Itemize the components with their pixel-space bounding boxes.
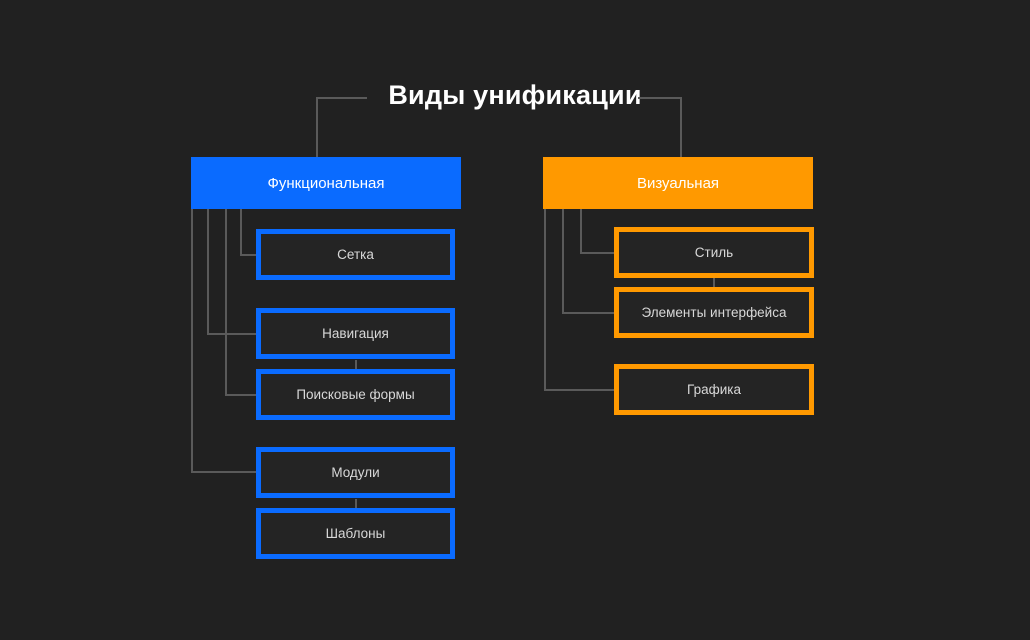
connector-visual-2-vertical bbox=[562, 209, 564, 313]
node-grafika[interactable]: Графика bbox=[614, 364, 814, 415]
connector-visual-3-vertical bbox=[544, 209, 546, 390]
connector-visual-stub-style-elements bbox=[713, 278, 715, 287]
connector-functional-4-vertical bbox=[191, 209, 193, 472]
node-elementy-interfeysa[interactable]: Элементы интерфейса bbox=[614, 287, 814, 338]
node-poiskovye-formy[interactable]: Поисковые формы bbox=[256, 369, 455, 420]
connector-visual-2-horizontal bbox=[562, 312, 617, 314]
node-shablony[interactable]: Шаблоны bbox=[256, 508, 455, 559]
title-connector-right-horizontal bbox=[638, 97, 682, 99]
connector-functional-3-vertical bbox=[207, 209, 209, 334]
branch-header-functional[interactable]: Функциональная bbox=[191, 157, 461, 209]
page-title: Виды унификации bbox=[0, 80, 1030, 111]
connector-functional-2-vertical bbox=[225, 209, 227, 395]
title-connector-left-vertical bbox=[316, 97, 318, 157]
connector-visual-1-vertical bbox=[580, 209, 582, 253]
connector-functional-4-horizontal bbox=[191, 471, 260, 473]
node-moduli[interactable]: Модули bbox=[256, 447, 455, 498]
diagram-canvas: Виды унификации Функциональная Сетка Нав… bbox=[0, 0, 1030, 640]
title-connector-right-vertical bbox=[680, 97, 682, 157]
connector-visual-1-horizontal bbox=[580, 252, 617, 254]
node-navigatsiya[interactable]: Навигация bbox=[256, 308, 455, 359]
branch-header-visual[interactable]: Визуальная bbox=[543, 157, 813, 209]
connector-functional-2-horizontal bbox=[225, 394, 260, 396]
node-stil[interactable]: Стиль bbox=[614, 227, 814, 278]
connector-visual-3-horizontal bbox=[544, 389, 617, 391]
title-connector-left-horizontal bbox=[316, 97, 367, 99]
node-setka[interactable]: Сетка bbox=[256, 229, 455, 280]
connector-functional-stub-mod-tmpl bbox=[355, 499, 357, 508]
connector-functional-1-vertical bbox=[240, 209, 242, 255]
connector-functional-stub-nav-search bbox=[355, 360, 357, 369]
connector-functional-3-horizontal bbox=[207, 333, 260, 335]
